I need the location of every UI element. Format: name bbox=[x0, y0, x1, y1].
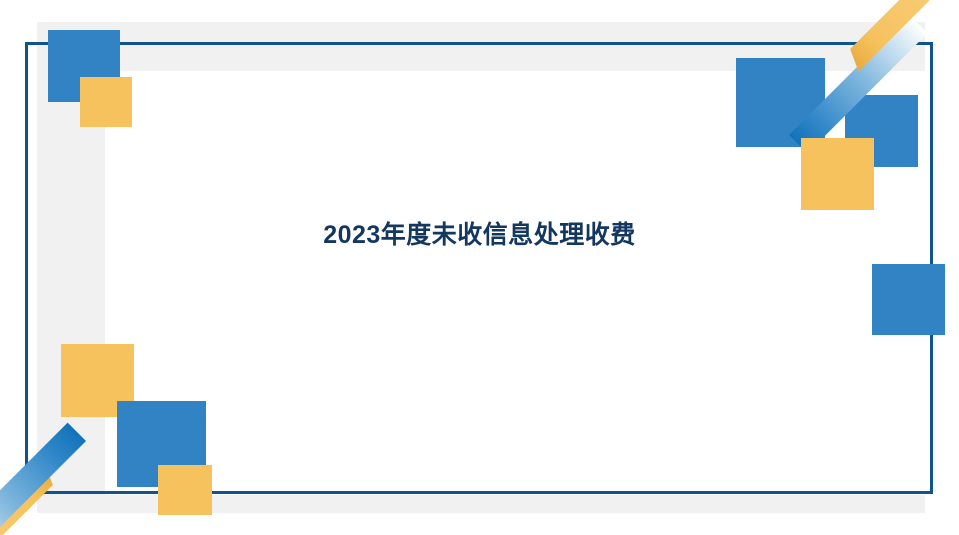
decor-square-top-left-yellow bbox=[80, 77, 132, 127]
decor-square-bottom-left-yellow-lower bbox=[158, 465, 212, 515]
slide-canvas: 2023年度未收信息处理收费 bbox=[0, 0, 959, 535]
decor-square-right-edge-blue bbox=[872, 264, 945, 335]
title-block: 2023年度未收信息处理收费 bbox=[0, 218, 959, 252]
page-title: 2023年度未收信息处理收费 bbox=[323, 218, 636, 252]
decor-square-top-right-yellow bbox=[801, 138, 874, 210]
